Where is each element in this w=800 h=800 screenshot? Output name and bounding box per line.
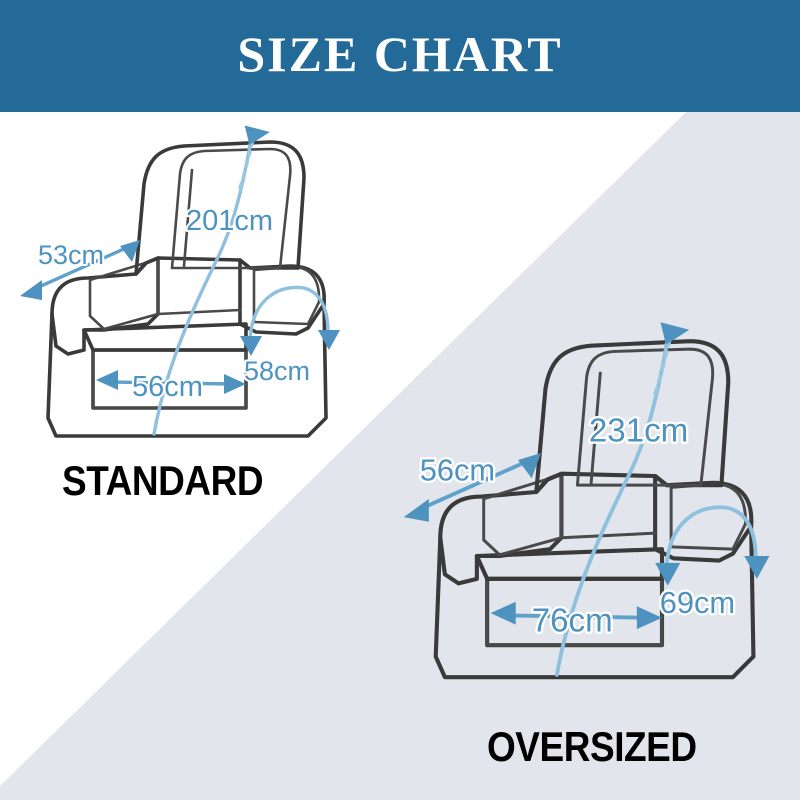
dimension-label-arm-height-oversized: 69cm — [660, 585, 735, 620]
dimension-label-length-oversized: 231cm — [589, 413, 688, 450]
header-bar: SIZE CHART — [0, 0, 800, 112]
page-title: SIZE CHART — [237, 29, 562, 83]
dimension-label-arm-depth-oversized: 56cm — [420, 453, 495, 488]
dimension-label-length-standard: 201cm — [186, 205, 273, 237]
figure-oversized: 231cm 56cm 69cm 76cm — [390, 312, 790, 704]
caption-standard: STANDARD — [62, 460, 263, 502]
size-chart-page: SIZE CHART — [0, 0, 800, 800]
caption-oversized: OVERSIZED — [487, 726, 697, 768]
dimension-label-arm-depth-standard: 53cm — [38, 240, 104, 270]
dimension-seat-width-oversized: 76cm — [491, 602, 662, 640]
dimension-label-seat-width-oversized: 76cm — [532, 602, 613, 639]
dimension-label-arm-height-standard: 58cm — [244, 356, 310, 386]
dimension-label-seat-width-standard: 56cm — [132, 371, 203, 403]
figure-standard: 201cm 53cm 58cm 56cm — [8, 118, 358, 458]
dimension-seat-width-standard: 56cm — [96, 370, 246, 403]
